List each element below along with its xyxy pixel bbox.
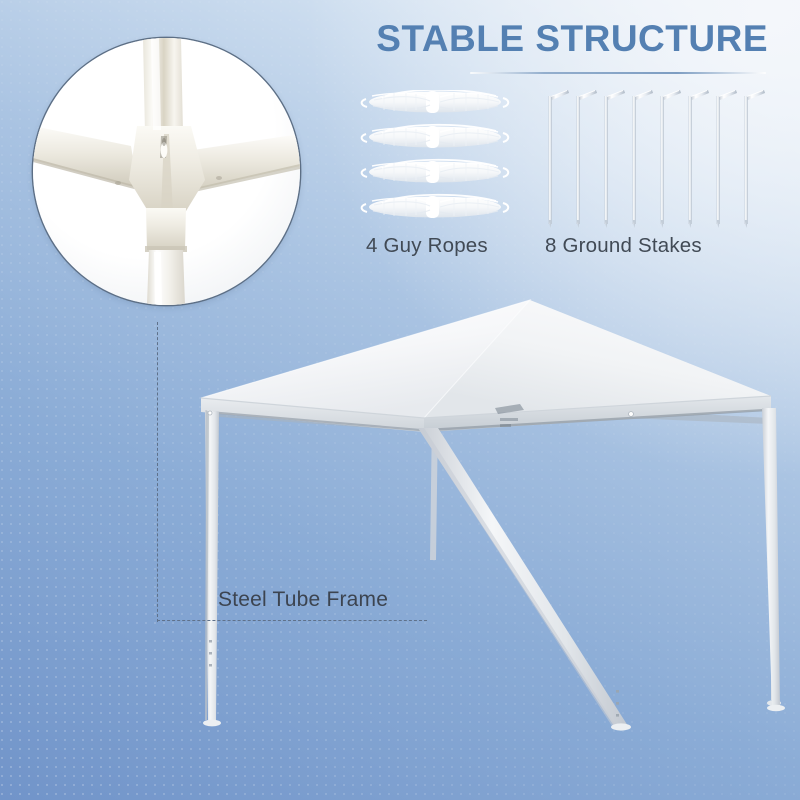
callout-line-horizontal [157, 620, 427, 621]
infographic-canvas: STABLE STRUCTURE [0, 0, 800, 800]
guy-ropes-group [360, 90, 530, 225]
joint-arm-left [33, 126, 138, 188]
guy-ropes-label: 4 Guy Ropes [366, 234, 488, 258]
ground-stake-item [549, 90, 569, 228]
guy-rope-item [362, 125, 509, 148]
ground-stake-item [689, 90, 709, 228]
joint-rivet [115, 181, 121, 185]
frame-bolt [629, 412, 634, 417]
gazebo-leg-front-center [418, 428, 631, 731]
lower-pole [147, 250, 185, 305]
title-underline [470, 72, 766, 74]
guy-rope-item [362, 195, 509, 218]
guy-rope-item [362, 160, 509, 183]
frame-bolt [208, 411, 212, 415]
ground-stake-item [605, 90, 625, 228]
ground-stake-item [633, 90, 653, 228]
gazebo-leg-front-right [762, 408, 785, 711]
upper-pole [143, 38, 183, 133]
ground-stake-item [577, 90, 597, 228]
ground-stake-item [661, 90, 681, 228]
ground-stakes-group [546, 88, 771, 228]
ground-stake-item [717, 90, 737, 228]
ground-stakes-label: 8 Ground Stakes [545, 234, 702, 258]
ground-stake-item [745, 90, 765, 228]
page-title: STABLE STRUCTURE [348, 20, 768, 59]
guy-rope-item [362, 90, 509, 113]
gazebo-leg-front-left [203, 410, 221, 726]
steel-tube-frame-label: Steel Tube Frame [218, 588, 388, 612]
corner-joint-inset [33, 38, 300, 305]
callout-line-vertical [157, 322, 158, 622]
joint-rivet [216, 176, 222, 180]
